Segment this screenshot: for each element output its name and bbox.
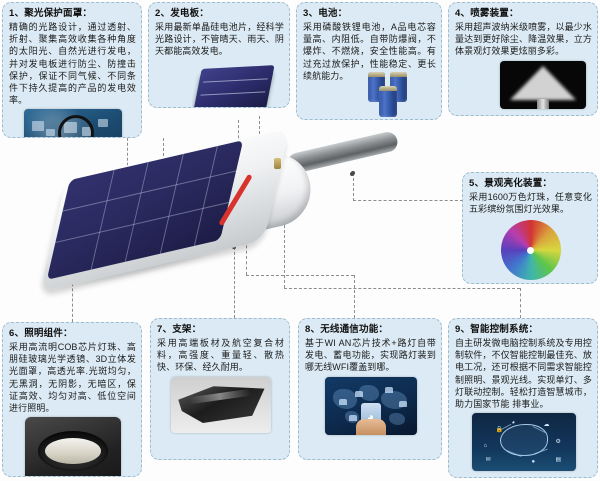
panel-5-body: 采用1600万色灯珠，任意变化五彩缤纷氛围灯光效果。 [469,191,592,215]
solar-cell-photo [192,61,278,108]
panel-1-number: 1、 [9,8,24,19]
solar-cell-body [193,65,274,108]
panel-4-mist-device: 4、喷雾装置： 采用超声波纳米级喷雾，以最少水量达到更好除尘、降温效果，立方体景… [448,2,598,116]
panel-9-title-text: 智能控制系统： [470,324,538,335]
solar-street-light-illustration [30,142,360,322]
panel-4-body: 采用超声波纳米级喷雾，以最少水量达到更好除尘、降温效果，立方体景观灯效果更炫丽多… [455,21,592,58]
panel-5-landscape-lighting: 5、景观亮化装置： 采用1600万色灯珠，任意变化五彩缤纷氛围灯光效果。 [462,172,598,284]
panel-7-title-text: 支架： [172,324,201,335]
panel-5-number: 5、 [469,178,484,189]
cob-lens-dome [45,438,101,464]
cob-module-photo [25,417,121,477]
city-icon-chart: ▤ [556,457,562,463]
spray-cone [510,66,576,100]
hand-holding-phone [356,419,386,435]
panel-2-number: 2、 [155,8,170,19]
city-icon-home: ⌂ [484,443,488,449]
spray-nozzle [537,99,549,109]
city-icon-wifi: ◕ [512,420,516,426]
panel-8-title-text: 无线通信功能： [320,324,388,335]
bracket-photo [171,377,271,433]
panel-3-battery: 3、电池： 采用磷酸铁锂电池，A品电芯容量高、内阻低。自带防爆阀，不爆炸、不燃烧… [296,2,442,120]
panel-6-title-text: 照明组件： [24,328,73,339]
panel-8-body: 基于WI AN芯片技术+路灯自带发电、蓄电功能，实现路灯装到哪无线WFI覆盖到哪… [305,337,436,374]
panel-9-title: 9、智能控制系统： [455,323,592,336]
mist-nozzle-valve [274,158,281,169]
color-wheel-photo [499,218,563,282]
network-node [385,387,393,393]
connector-line-5h [353,200,463,201]
panel-7-body: 采用高端板材及航空复合材料，高强度、重量轻、散热快、环保、经久耐用。 [157,337,284,374]
wifi-network-photo: ◕ [325,377,417,435]
panel-4-title: 4、喷雾装置： [455,7,592,20]
panel-8-wireless: 8、无线通信功能： 基于WI AN芯片技术+路灯自带发电、蓄电功能，实现路灯装到… [298,318,442,460]
panel-6-lighting-module: 6、照明组件： 采用高流明COB芯片灯珠、高朋硅玻璃光学透镜、3D立体发光面罩，… [2,322,142,477]
panel-1-title-text: 聚光保护面罩： [24,8,92,19]
panel-6-title: 6、照明组件： [9,327,136,340]
panel-2-solar-board: 2、发电板： 采用最新单晶硅电池片，经科学光路设计，不管晴天、雨天、阴天都能高效… [148,2,290,108]
network-node [399,401,407,407]
infographic-page: 1、聚光保护面罩： 精确的光路设计，通过透射、折射、聚集高效收集各种角度的太阳光… [0,0,600,481]
magnifier-photo [24,109,122,138]
color-wheel-center [527,247,534,254]
network-node [349,415,357,421]
panel-1-title: 1、聚光保护面罩： [9,7,136,20]
battery-photo [354,64,432,118]
panel-7-number: 7、 [157,324,172,335]
city-icon-gear: ⚙ [556,439,561,445]
panel-9-number: 9、 [455,324,470,335]
magnifier-ring-icon [58,115,94,138]
panel-2-title: 2、发电板： [155,7,284,20]
smart-city-photo: ⌂ ◕ ☁ ⚙ ✉ ▤ 🔒 ● [472,413,576,471]
panel-7-title: 7、支架： [157,323,284,336]
connector-line-9c [520,288,521,318]
panel-3-title: 3、电池： [303,7,436,20]
battery-cell-front [379,86,397,117]
panel-8-number: 8、 [305,324,320,335]
panel-5-title-text: 景观亮化装置： [484,178,552,189]
panel-3-number: 3、 [303,8,318,19]
city-icon-lock: 🔒 [496,427,503,433]
panel-3-title-text: 电池： [318,8,347,19]
panel-9-smart-control: 9、智能控制系统： 自主研发微电脑控制系统及专用控制软件，不仅智能控制最佳充、放… [448,318,598,478]
network-node [355,391,363,397]
city-icon-cloud: ☁ [544,422,550,428]
panel-2-title-text: 发电板： [170,8,209,19]
panel-1-body: 精确的光路设计，通过透射、折射、聚集高效收集各种角度的太阳光、自然光进行发电，并… [9,21,136,106]
panel-4-number: 4、 [455,8,470,19]
city-icon-mail: ✉ [486,457,491,463]
panel-6-number: 6、 [9,328,24,339]
panel-2-body: 采用最新单晶硅电池片，经科学光路设计，不管晴天、雨天、阴天都能高效发电。 [155,21,284,58]
panel-8-title: 8、无线通信功能： [305,323,436,336]
bracket-shell [177,385,265,425]
panel-9-body: 自主研发微电脑控制系统及专用控制软件，不仅智能控制最佳充、放电工况，还可根据不同… [455,337,592,410]
network-node [339,399,347,405]
panel-5-title: 5、景观亮化装置： [469,177,592,190]
panel-1-light-cover: 1、聚光保护面罩： 精确的光路设计，通过透射、折射、聚集高效收集各种角度的太阳光… [2,2,142,138]
panel-6-body: 采用高流明COB芯片灯珠、高朋硅玻璃光学透镜、3D立体发光面罩，高透光率.光斑均… [9,341,136,414]
mist-spray-photo [500,61,586,109]
panel-4-title-text: 喷雾装置： [470,8,519,19]
city-icon-pin: ● [532,459,536,465]
panel-7-bracket: 7、支架： 采用高端板材及航空复合材料，高强度、重量轻、散热快、环保、经久耐用。 [150,318,290,460]
